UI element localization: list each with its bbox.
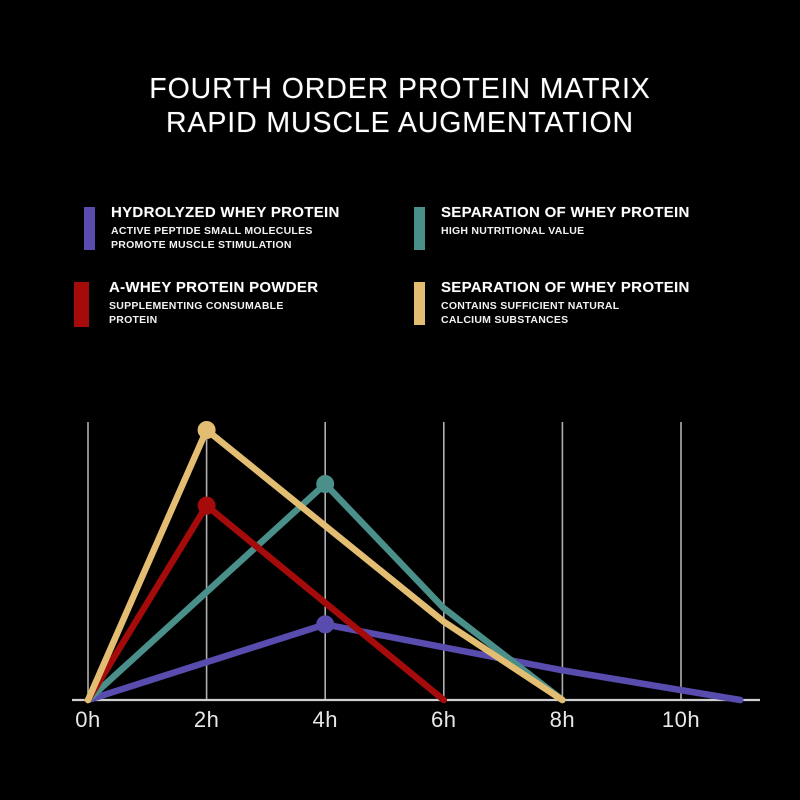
legend-item-a-whey-protein-powder: A-WHEY PROTEIN POWDER SUPPLEMENTING CONS… xyxy=(74,279,318,327)
series-line-0 xyxy=(88,624,740,700)
legend-title: SEPARATION OF WHEY PROTEIN xyxy=(441,204,690,221)
legend-subtitle-line-1: ACTIVE PEPTIDE SMALL MOLECULES xyxy=(111,225,340,238)
legend-subtitle-line-1: HIGH NUTRITIONAL VALUE xyxy=(441,225,690,238)
legend-subtitle-line-2: PROTEIN xyxy=(109,314,318,327)
data-point-marker-3 xyxy=(198,422,215,439)
legend-swatch-teal xyxy=(414,207,425,250)
legend-subtitle-line-1: CONTAINS SUFFICIENT NATURAL xyxy=(441,300,690,313)
line-chart: 0h2h4h6h8h10h xyxy=(0,400,800,760)
legend-item-separation-of-whey-protein-nutritional: SEPARATION OF WHEY PROTEIN HIGH NUTRITIO… xyxy=(414,204,690,250)
poster-root: FOURTH ORDER PROTEIN MATRIX RAPID MUSCLE… xyxy=(0,0,800,800)
data-point-marker-1 xyxy=(317,476,334,493)
x-tick-label-6h: 6h xyxy=(431,707,456,732)
legend-subtitle-line-1: SUPPLEMENTING CONSUMABLE xyxy=(109,300,318,313)
x-tick-label-8h: 8h xyxy=(550,707,575,732)
chart-svg: 0h2h4h6h8h10h xyxy=(0,400,800,760)
chart-markers-group xyxy=(198,422,334,633)
chart-gridlines xyxy=(88,422,681,700)
legend-text-group: HYDROLYZED WHEY PROTEIN ACTIVE PEPTIDE S… xyxy=(111,204,340,251)
data-point-marker-2 xyxy=(198,497,215,514)
title-line-2: RAPID MUSCLE AUGMENTATION xyxy=(0,106,800,140)
title-line-1: FOURTH ORDER PROTEIN MATRIX xyxy=(0,72,800,106)
page-title: FOURTH ORDER PROTEIN MATRIX RAPID MUSCLE… xyxy=(0,72,800,140)
legend-swatch-gold xyxy=(414,282,425,325)
legend-item-separation-of-whey-protein-calcium: SEPARATION OF WHEY PROTEIN CONTAINS SUFF… xyxy=(414,279,690,326)
chart-series-group xyxy=(88,430,740,700)
legend-swatch-purple xyxy=(84,207,95,250)
legend-title: A-WHEY PROTEIN POWDER xyxy=(109,279,318,296)
legend-swatch-red xyxy=(74,282,89,327)
legend-text-group: SEPARATION OF WHEY PROTEIN CONTAINS SUFF… xyxy=(441,279,690,326)
legend-title: HYDROLYZED WHEY PROTEIN xyxy=(111,204,340,221)
x-tick-label-4h: 4h xyxy=(312,707,337,732)
chart-x-axis-labels: 0h2h4h6h8h10h xyxy=(75,707,700,732)
x-tick-label-2h: 2h xyxy=(194,707,219,732)
x-tick-label-10h: 10h xyxy=(662,707,700,732)
x-tick-label-0h: 0h xyxy=(75,707,100,732)
legend-text-group: A-WHEY PROTEIN POWDER SUPPLEMENTING CONS… xyxy=(109,279,318,326)
legend: HYDROLYZED WHEY PROTEIN ACTIVE PEPTIDE S… xyxy=(0,200,800,330)
legend-subtitle-line-2: PROMOTE MUSCLE STIMULATION xyxy=(111,239,340,252)
legend-subtitle-line-2: CALCIUM SUBSTANCES xyxy=(441,314,690,327)
data-point-marker-0 xyxy=(317,616,334,633)
legend-text-group: SEPARATION OF WHEY PROTEIN HIGH NUTRITIO… xyxy=(441,204,690,238)
legend-item-hydrolyzed-whey-protein: HYDROLYZED WHEY PROTEIN ACTIVE PEPTIDE S… xyxy=(84,204,340,251)
legend-title: SEPARATION OF WHEY PROTEIN xyxy=(441,279,690,296)
